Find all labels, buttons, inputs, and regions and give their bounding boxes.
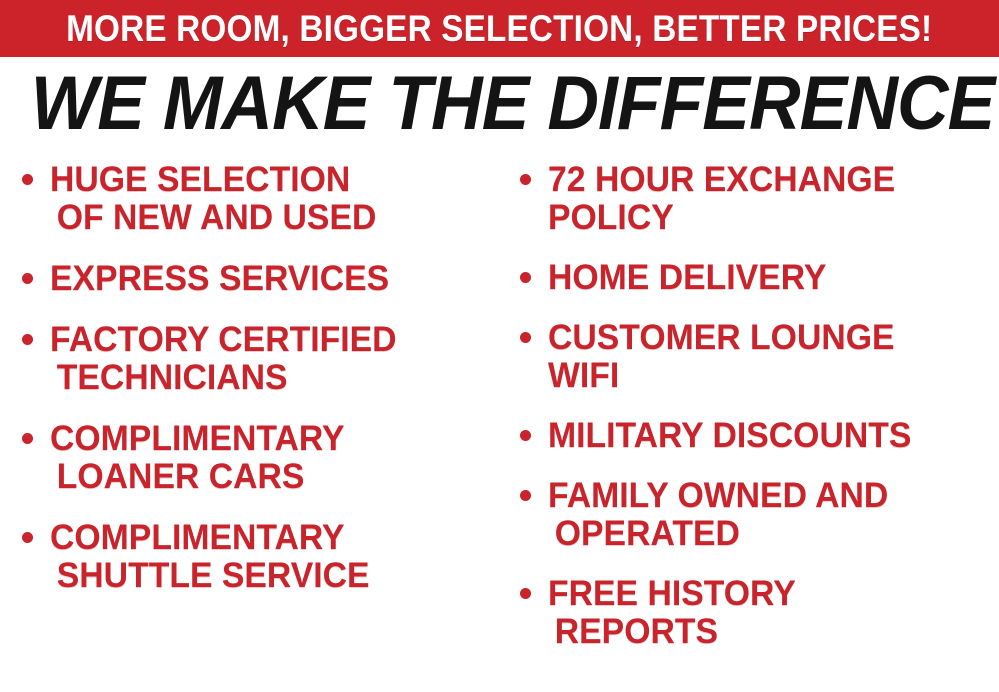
advertisement-banner: MORE ROOM, BIGGER SELECTION, BETTER PRIC…	[0, 0, 999, 692]
list-item-line: SHUTTLE SERVICE	[50, 557, 482, 595]
list-item: MILITARY DISCOUNTS	[516, 417, 999, 455]
list-item-text: HOME DELIVERY	[548, 259, 999, 297]
list-item-line: COMPLIMENTARY	[50, 519, 482, 557]
features-column-left: HUGE SELECTION OF NEW AND USED EXPRESS S…	[18, 161, 498, 618]
list-item: FREE HISTORY REPORTS	[516, 575, 999, 651]
bullet-dot-icon	[520, 272, 531, 283]
bullet-dot-icon	[22, 174, 33, 185]
list-item-line: REPORTS	[548, 613, 983, 651]
list-item-text: FREE HISTORY REPORTS	[548, 575, 999, 651]
list-item-line: WIFI	[548, 357, 983, 395]
list-item-text: FACTORY CERTIFIED TECHNICIANS	[50, 321, 498, 397]
list-item-line: POLICY	[548, 199, 983, 237]
list-item-line: EXPRESS SERVICES	[50, 260, 482, 298]
list-item-line: OF NEW AND USED	[50, 199, 482, 237]
list-item-line: MILITARY DISCOUNTS	[548, 417, 983, 455]
bullet-dot-icon	[520, 490, 531, 501]
bullet-dot-icon	[22, 532, 33, 543]
bullet-dot-icon	[520, 332, 531, 343]
list-item-line: OPERATED	[548, 515, 983, 553]
list-item-line: FACTORY CERTIFIED	[50, 321, 482, 359]
headline: WE MAKE THE DIFFERENCE	[0, 66, 999, 142]
bullet-dot-icon	[22, 334, 33, 345]
list-item-text: MILITARY DISCOUNTS	[548, 417, 999, 455]
list-item: 72 HOUR EXCHANGE POLICY	[516, 161, 999, 237]
promo-banner-text: MORE ROOM, BIGGER SELECTION, BETTER PRIC…	[66, 10, 932, 47]
list-item: COMPLIMENTARY SHUTTLE SERVICE	[18, 519, 498, 595]
bullet-dot-icon	[520, 174, 531, 185]
list-item-line: HUGE SELECTION	[50, 161, 482, 199]
bullet-dot-icon	[520, 588, 531, 599]
list-item-line: CUSTOMER LOUNGE	[548, 319, 983, 357]
list-item-text: COMPLIMENTARY SHUTTLE SERVICE	[50, 519, 498, 595]
bullet-dot-icon	[22, 273, 33, 284]
list-item-text: COMPLIMENTARY LOANER CARS	[50, 420, 498, 496]
list-item-line: 72 HOUR EXCHANGE	[548, 161, 983, 199]
list-item: COMPLIMENTARY LOANER CARS	[18, 420, 498, 496]
list-item-text: HUGE SELECTION OF NEW AND USED	[50, 161, 498, 237]
features-column-right: 72 HOUR EXCHANGE POLICY HOME DELIVERY CU…	[516, 161, 999, 673]
list-item-line: TECHNICIANS	[50, 359, 482, 397]
list-item: EXPRESS SERVICES	[18, 260, 498, 298]
list-item-text: 72 HOUR EXCHANGE POLICY	[548, 161, 999, 237]
bullet-dot-icon	[520, 430, 531, 441]
list-item-line: COMPLIMENTARY	[50, 420, 482, 458]
features-columns: HUGE SELECTION OF NEW AND USED EXPRESS S…	[0, 161, 999, 681]
list-item-line: LOANER CARS	[50, 458, 482, 496]
list-item: FACTORY CERTIFIED TECHNICIANS	[18, 321, 498, 397]
list-item: HOME DELIVERY	[516, 259, 999, 297]
list-item-text: CUSTOMER LOUNGE WIFI	[548, 319, 999, 395]
list-item-line: FAMILY OWNED AND	[548, 477, 983, 515]
list-item: FAMILY OWNED AND OPERATED	[516, 477, 999, 553]
list-item-line: HOME DELIVERY	[548, 259, 983, 297]
list-item-text: FAMILY OWNED AND OPERATED	[548, 477, 999, 553]
promo-banner: MORE ROOM, BIGGER SELECTION, BETTER PRIC…	[0, 0, 999, 57]
headline-text: WE MAKE THE DIFFERENCE	[31, 66, 995, 142]
bullet-dot-icon	[22, 433, 33, 444]
list-item: HUGE SELECTION OF NEW AND USED	[18, 161, 498, 237]
list-item: CUSTOMER LOUNGE WIFI	[516, 319, 999, 395]
list-item-line: FREE HISTORY	[548, 575, 983, 613]
list-item-text: EXPRESS SERVICES	[50, 260, 498, 298]
